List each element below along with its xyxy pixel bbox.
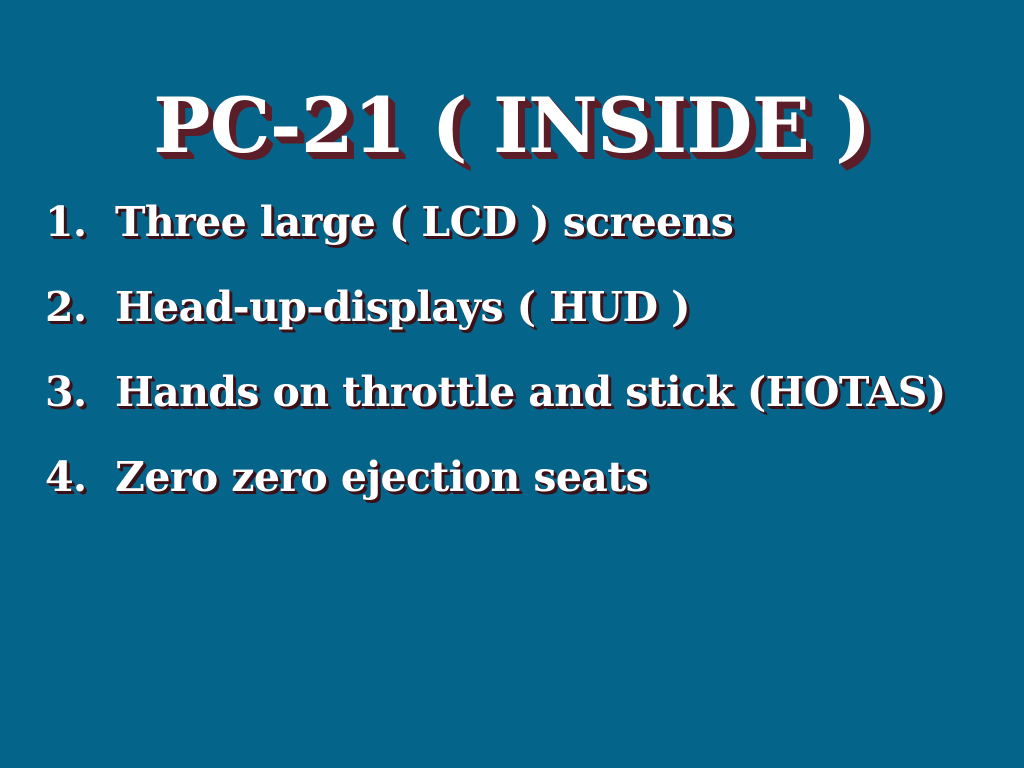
slide-title: PC-21 ( INSIDE ) xyxy=(0,78,1024,174)
list-item-label: Head-up-displays ( HUD ) xyxy=(115,281,1005,333)
list-item-label: Zero zero ejection seats xyxy=(115,451,1005,503)
list-item: 1. Three large ( LCD ) screens xyxy=(45,196,1005,281)
presentation-slide: PC-21 ( INSIDE ) 1. Three large ( LCD ) … xyxy=(0,0,1024,768)
list-item-number: 1. xyxy=(45,196,115,248)
list-item: 2. Head-up-displays ( HUD ) xyxy=(45,281,1005,366)
list-item: 4. Zero zero ejection seats xyxy=(45,451,1005,536)
list-item-number: 4. xyxy=(45,451,115,503)
list-item-label: Three large ( LCD ) screens xyxy=(115,196,1005,248)
numbered-list: 1. Three large ( LCD ) screens 2. Head-u… xyxy=(45,196,1005,536)
list-item: 3. Hands on throttle and stick (HOTAS) xyxy=(45,366,1005,451)
list-item-number: 3. xyxy=(45,366,115,418)
list-item-number: 2. xyxy=(45,281,115,333)
list-item-label: Hands on throttle and stick (HOTAS) xyxy=(115,366,1005,418)
